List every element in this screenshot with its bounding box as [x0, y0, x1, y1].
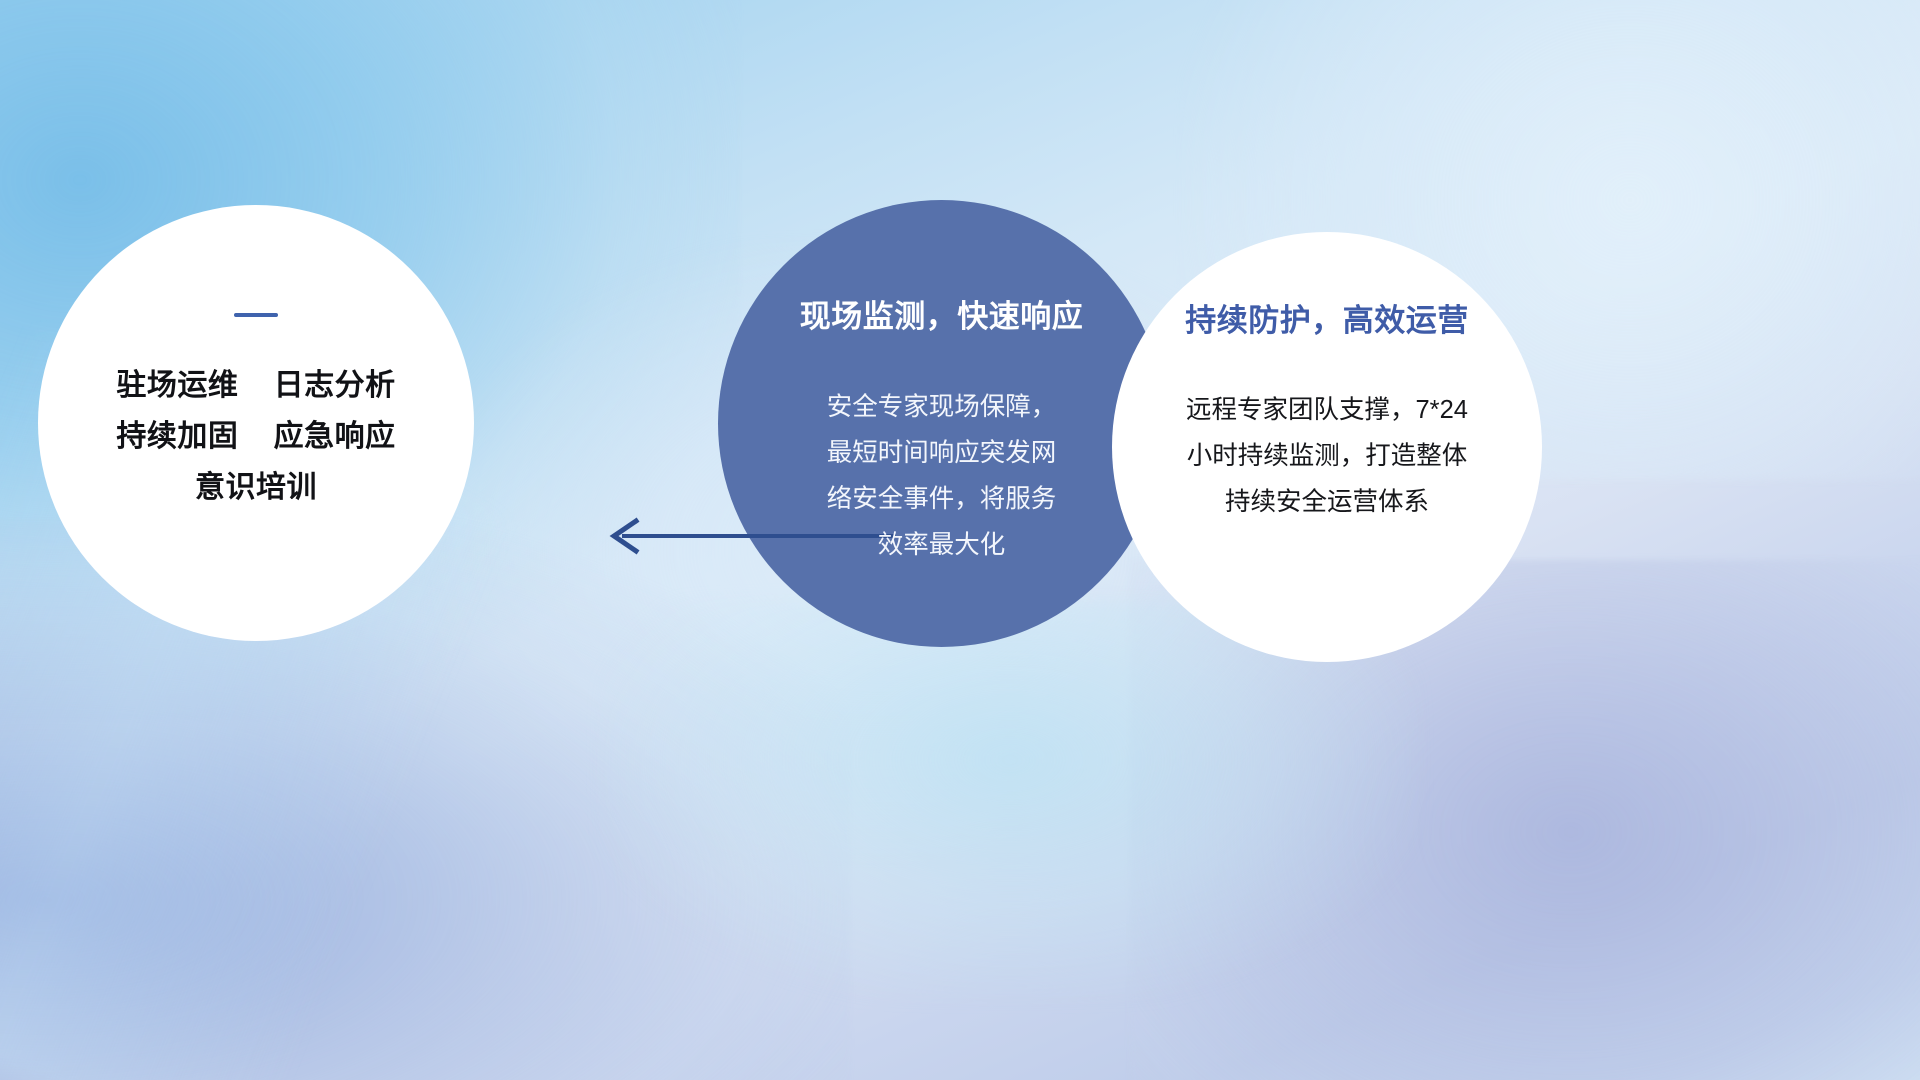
- right-circle-body-line-2: 小时持续监测，打造整体: [1138, 433, 1516, 479]
- right-circle-body-line-1: 远程专家团队支撑，7*24: [1138, 387, 1516, 433]
- left-circle-keyword-list: 驻场运维 日志分析 持续加固 应急响应 意识培训: [38, 360, 474, 513]
- accent-dash-icon: [234, 313, 278, 317]
- slide-canvas: 驻场运维 日志分析 持续加固 应急响应 意识培训 现场监测，快速响应 安全专家现…: [0, 0, 1920, 1080]
- middle-circle-body-line-3: 络安全事件，将服务: [792, 476, 1092, 522]
- middle-circle-body: 安全专家现场保障， 最短时间响应突发网 络安全事件，将服务 效率最大化: [792, 384, 1092, 568]
- middle-circle-body-line-2: 最短时间响应突发网: [792, 430, 1092, 476]
- left-circle-line-3: 意识培训: [38, 462, 474, 513]
- middle-circle-title: 现场监测，快速响应: [800, 291, 1084, 336]
- left-circle-line-2: 持续加固 应急响应: [38, 411, 474, 462]
- right-circle-body: 远程专家团队支撑，7*24 小时持续监测，打造整体 持续安全运营体系: [1138, 387, 1516, 525]
- middle-circle-body-line-4: 效率最大化: [792, 522, 1092, 568]
- middle-circle-body-line-1: 安全专家现场保障，: [792, 384, 1092, 430]
- right-circle-title: 持续防护，高效运营: [1185, 295, 1469, 340]
- right-circle-body-line-3: 持续安全运营体系: [1138, 479, 1516, 525]
- left-circle-line-1: 驻场运维 日志分析: [38, 360, 474, 411]
- left-circle-content: 驻场运维 日志分析 持续加固 应急响应 意识培训: [38, 205, 474, 641]
